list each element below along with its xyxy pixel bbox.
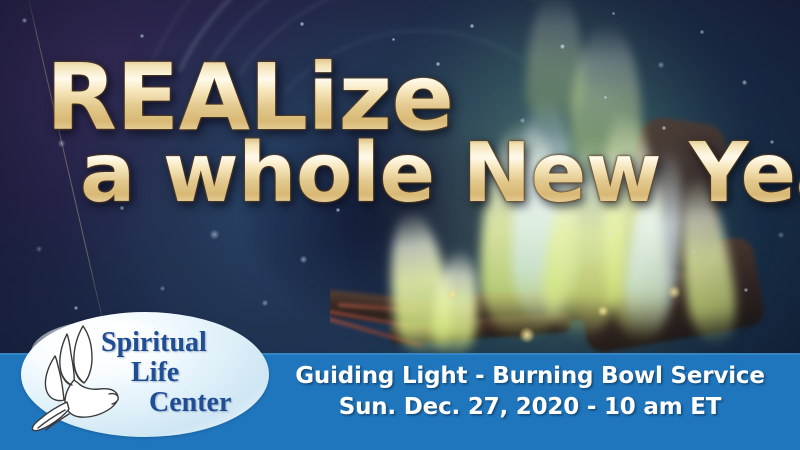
- logo-word-center: Center: [149, 388, 265, 418]
- promo-graphic: REALize a whole New Year Guiding Light -…: [0, 0, 800, 450]
- logo-wordmark: Spiritual Life Center: [93, 328, 265, 418]
- event-datetime: Sun. Dec. 27, 2020 - 10 am ET: [268, 392, 792, 423]
- event-title: Guiding Light - Burning Bowl Service: [268, 361, 792, 392]
- organization-logo[interactable]: Spiritual Life Center: [21, 312, 269, 437]
- event-info-text: Guiding Light - Burning Bowl Service Sun…: [268, 361, 792, 423]
- logo-word-life: Life: [131, 358, 265, 388]
- logo-word-spiritual: Spiritual: [101, 328, 265, 358]
